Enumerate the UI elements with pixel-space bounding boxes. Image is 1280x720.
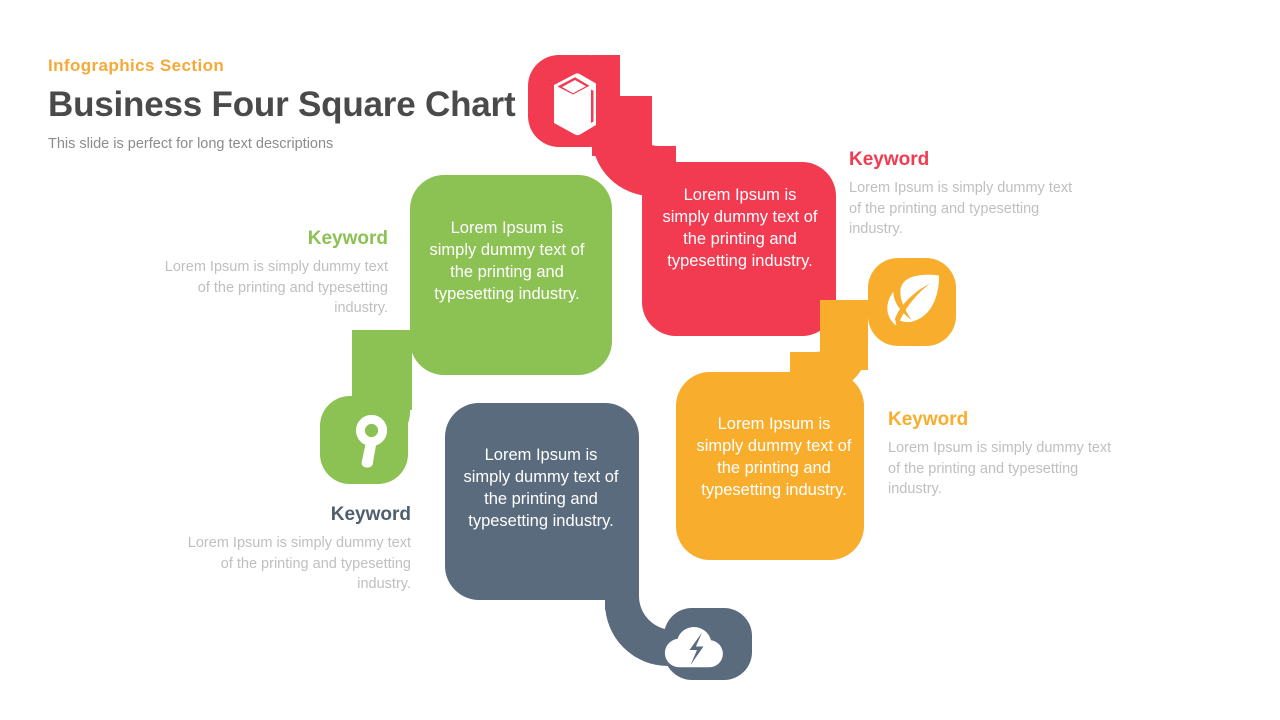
keyword-block-red: Keyword Lorem Ipsum is simply dummy text… xyxy=(849,149,1081,240)
keyword-desc-red: Lorem Ipsum is simply dummy text of the … xyxy=(849,178,1081,240)
red-connector-fill xyxy=(592,96,652,156)
slate-card-text: Lorem Ipsum is simply dummy text of the … xyxy=(462,445,620,533)
keyword-title-orange: Keyword xyxy=(888,409,1120,431)
green-card-text: Lorem Ipsum is simply dummy text of the … xyxy=(428,218,586,306)
orange-card-text: Lorem Ipsum is simply dummy text of the … xyxy=(695,414,853,502)
book-icon xyxy=(554,73,596,135)
keyword-desc-slate: Lorem Ipsum is simply dummy text of the … xyxy=(185,533,411,595)
keyword-title-slate: Keyword xyxy=(185,504,411,526)
orange-connector-fill xyxy=(820,300,868,370)
keyword-block-orange: Keyword Lorem Ipsum is simply dummy text… xyxy=(888,409,1120,500)
keyword-block-green: Keyword Lorem Ipsum is simply dummy text… xyxy=(160,228,388,319)
infographic-blob-canvas xyxy=(0,0,1280,720)
red-card-text: Lorem Ipsum is simply dummy text of the … xyxy=(660,185,820,273)
keyword-title-green: Keyword xyxy=(160,228,388,250)
keyword-block-slate: Keyword Lorem Ipsum is simply dummy text… xyxy=(185,504,411,595)
keyword-desc-green: Lorem Ipsum is simply dummy text of the … xyxy=(160,257,388,319)
keyword-desc-orange: Lorem Ipsum is simply dummy text of the … xyxy=(888,438,1120,500)
keyword-title-red: Keyword xyxy=(849,149,1081,171)
slate-connector-fill xyxy=(605,540,639,610)
